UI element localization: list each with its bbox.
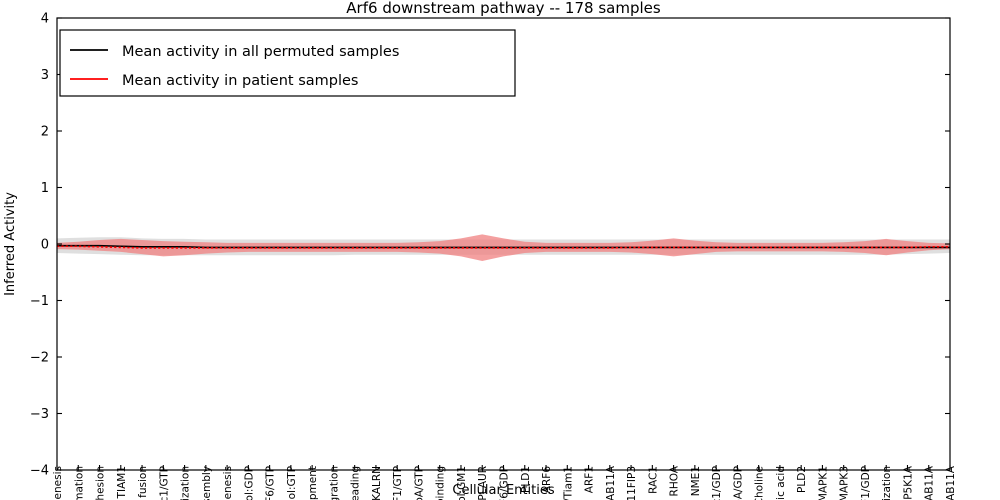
x-tick-label: RHOA	[669, 465, 681, 496]
x-tick-label: RAB11A	[605, 465, 617, 500]
x-tick-label: regulation of axonogenesis	[52, 466, 64, 500]
x-tick-label: ARF1/GTP	[392, 466, 404, 500]
x-tick-label: MAPK1	[817, 466, 829, 500]
x-tick-label: NME1	[690, 466, 702, 496]
y-tick-label: −1	[30, 294, 49, 309]
x-tick-label: substrate adhesion-dependent cell spread…	[350, 466, 362, 500]
x-tick-label: ARF6/GTP	[265, 466, 277, 500]
y-tick-label: 0	[41, 238, 49, 253]
x-tick-label: RAB11FIP3/RAB11A	[924, 465, 936, 500]
x-tick-label: RhoA/GDP	[732, 466, 744, 500]
x-tick-label: cortical actin cytoskeleton organization	[180, 466, 192, 500]
x-tick-label: TIAM1	[116, 466, 128, 499]
x-tick-label: tube morphogenesis	[222, 466, 234, 500]
x-tick-label: PLD2	[796, 466, 808, 493]
y-tick-label: 3	[41, 68, 49, 83]
x-tick-label: lamellipodium assembly	[201, 466, 213, 500]
x-tick-label: ARF1/GDP	[860, 466, 872, 500]
x-tick-label: fibronectin binding	[435, 466, 447, 500]
chart-canvas: −4−3−2−101234regulation of axonogenesisa…	[0, 0, 1000, 500]
y-tick-label: 4	[41, 12, 49, 27]
x-tick-label: ruffle organization	[881, 466, 893, 500]
x-tick-label: mol:GTP	[286, 466, 298, 500]
x-tick-label: MAPK3	[839, 466, 851, 500]
y-tick-label: 2	[41, 125, 49, 140]
x-tick-label: actin filament bundle formation	[73, 466, 85, 500]
legend: Mean activity in all permuted samplesMea…	[60, 30, 515, 96]
x-tick-label: mol:Phosphatidic acid	[775, 466, 787, 500]
x-tick-label: ARF1	[584, 466, 596, 493]
x-tick-label: Rac1/GTP	[158, 466, 170, 500]
x-tick-label: myoblast fusion	[137, 466, 149, 500]
y-tick-label: −4	[30, 464, 49, 479]
x-tick-label: ARF6/GTP/RAB11FIP3/RAB11A	[945, 465, 957, 500]
x-tick-label: RAB11FIP3	[626, 466, 638, 500]
x-tick-label: KALRN	[371, 466, 383, 500]
x-tick-label: RAC1	[647, 466, 659, 494]
y-tick-label: 1	[41, 181, 49, 196]
y-tick-label: −3	[30, 407, 49, 422]
x-tick-label: regulation of calcium-dependent cell-cel…	[95, 466, 107, 500]
x-tick-label: PIP5K1A	[902, 465, 914, 500]
x-tick-label: liver development	[307, 466, 319, 500]
x-tick-label: RhoA/GTP	[413, 466, 425, 500]
x-axis-title: Cellular Entities	[452, 483, 554, 498]
legend-label: Mean activity in all permuted samples	[122, 44, 399, 60]
x-tick-label: ARF6/GTP/NME1/Tiam1	[562, 466, 574, 500]
chart-root: −4−3−2−101234regulation of axonogenesisa…	[0, 0, 1000, 500]
x-tick-label: mol:Choline	[754, 466, 766, 500]
legend-label: Mean activity in patient samples	[122, 73, 358, 89]
y-tick-label: −2	[30, 351, 49, 366]
x-tick-label: Rac1/GDP	[711, 466, 723, 500]
chart-title: Arf6 downstream pathway -- 178 samples	[346, 0, 661, 17]
x-tick-label: mol:GDP	[243, 466, 255, 500]
x-tick-label: regulation of epithelial cell migration	[328, 466, 340, 500]
y-axis-title: Inferred Activity	[3, 192, 18, 296]
